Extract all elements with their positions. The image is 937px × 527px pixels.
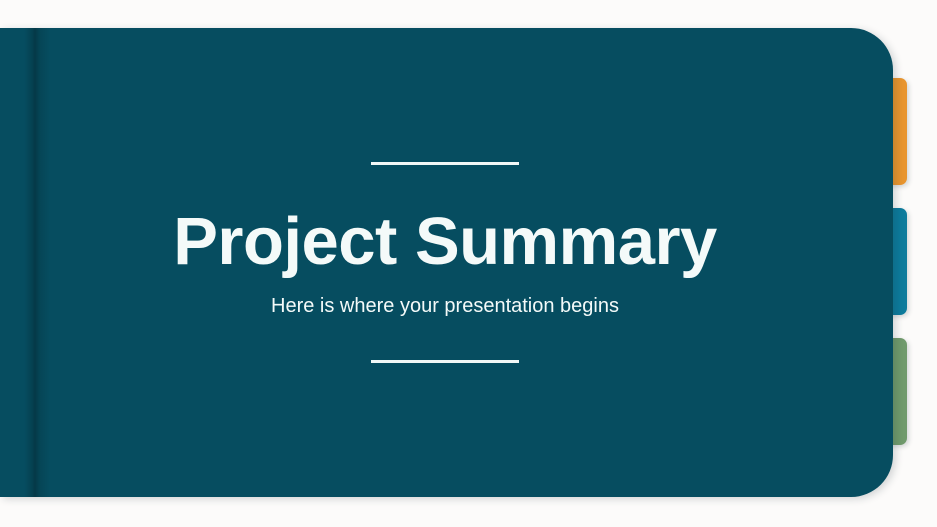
page-title: Project Summary bbox=[173, 207, 717, 276]
panel-spine-shadow bbox=[24, 28, 50, 497]
slide-canvas: Project Summary Here is where your prese… bbox=[0, 0, 937, 527]
slide-panel: Project Summary Here is where your prese… bbox=[0, 28, 893, 497]
divider-rule-top bbox=[371, 162, 519, 165]
page-subtitle: Here is where your presentation begins bbox=[271, 294, 619, 318]
title-block: Project Summary Here is where your prese… bbox=[50, 28, 840, 497]
divider-rule-bottom bbox=[371, 360, 519, 363]
